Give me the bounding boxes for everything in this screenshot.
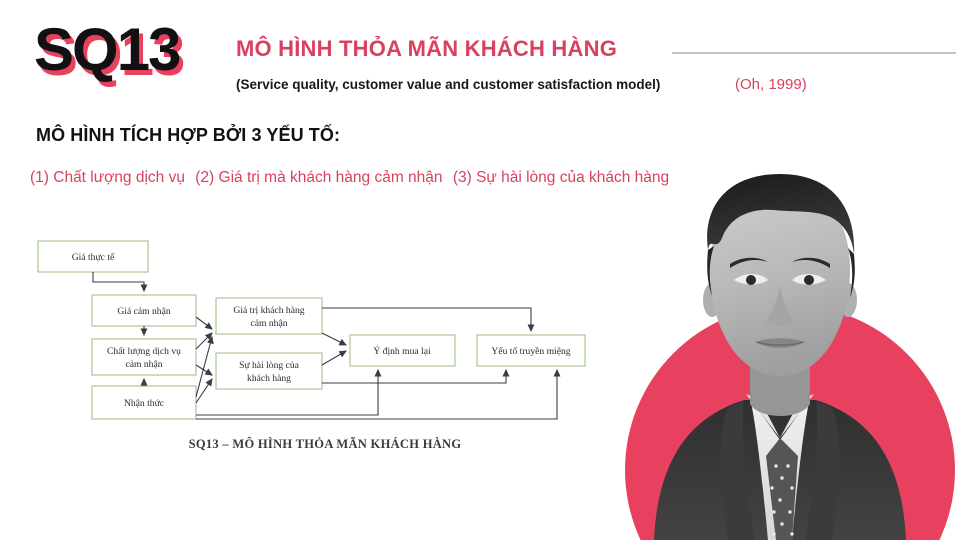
factor-item-2: (2) Giá trị mà khách hàng cảm nhận — [195, 169, 442, 186]
node-gia-thuc-te: Giá thực tế — [38, 241, 148, 272]
svg-text:Giá thực tế: Giá thực tế — [72, 252, 115, 263]
svg-text:khách hàng: khách hàng — [247, 373, 291, 384]
node-y-dinh-mua-lai: Ý định mua lại — [350, 335, 455, 366]
diagram-caption: SQ13 – MÔ HÌNH THỎA MÃN KHÁCH HÀNG — [160, 437, 490, 452]
node-chat-luong-dich-vu: Chất lượng dịch vụ cảm nhận — [92, 339, 196, 375]
svg-text:Sự hài lòng của: Sự hài lòng của — [239, 360, 300, 371]
svg-text:Chất lượng dịch vụ: Chất lượng dịch vụ — [107, 346, 181, 357]
header-divider — [672, 52, 956, 54]
node-nhan-thuc: Nhận thức — [92, 386, 196, 419]
page-subtitle: (Service quality, customer value and cus… — [236, 76, 660, 94]
model-diagram: .bx{fill:#ffffff;stroke:#a9c79a;stroke-w… — [20, 225, 620, 465]
node-yeu-to-truyen-mieng: Yếu tố truyền miệng — [477, 335, 585, 366]
svg-text:Ý định mua lại: Ý định mua lại — [373, 345, 431, 357]
svg-text:cảm nhận: cảm nhận — [125, 359, 162, 370]
svg-text:Nhận thức: Nhận thức — [124, 398, 164, 409]
svg-text:Giá trị khách hàng: Giá trị khách hàng — [233, 305, 304, 316]
page-title: MÔ HÌNH THỎA MÃN KHÁCH HÀNG — [236, 36, 617, 62]
slide: SQ13 MÔ HÌNH THỎA MÃN KHÁCH HÀNG (Servic… — [0, 0, 960, 540]
svg-text:Giá cảm nhận: Giá cảm nhận — [117, 306, 170, 317]
slide-number-logo: SQ13 — [34, 20, 179, 80]
section-factor-list: (1) Chất lượng dịch vụ (2) Giá trị mà kh… — [30, 168, 675, 188]
citation-label: (Oh, 1999) — [735, 76, 807, 94]
node-su-hai-long: Sự hài lòng của khách hàng — [216, 353, 322, 389]
section-heading: MÔ HÌNH TÍCH HỢP BỞI 3 YẾU TỐ: — [36, 124, 340, 146]
node-gia-cam-nhan: Giá cảm nhận — [92, 295, 196, 326]
portrait-photo — [642, 154, 918, 540]
portrait-figure — [600, 140, 960, 540]
svg-text:Yếu tố truyền miệng: Yếu tố truyền miệng — [491, 346, 570, 357]
node-gia-tri-khach-hang: Giá trị khách hàng cảm nhận — [216, 298, 322, 334]
factor-item-1: (1) Chất lượng dịch vụ — [30, 169, 185, 186]
svg-text:cảm nhận: cảm nhận — [250, 318, 287, 329]
